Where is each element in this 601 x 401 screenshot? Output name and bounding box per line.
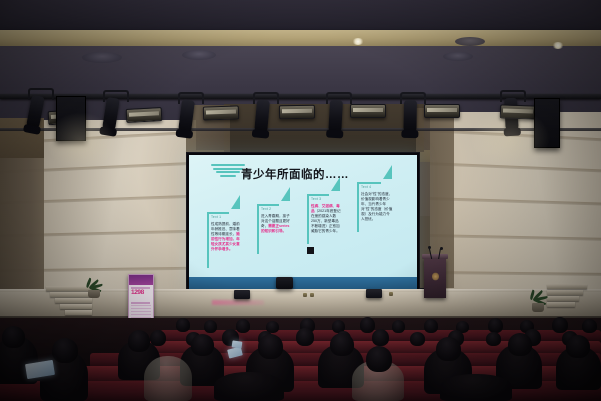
audience-head — [372, 329, 389, 346]
audience-head — [360, 317, 375, 333]
audience-person-foreground — [440, 374, 512, 401]
audience-phone-screen — [232, 340, 243, 348]
slide-arrow-icon — [281, 187, 290, 201]
audience-head — [436, 337, 461, 361]
audience-head — [204, 320, 217, 333]
stage-floodlight — [350, 104, 386, 118]
audience-head — [52, 338, 78, 363]
ceiling-vent — [455, 37, 485, 46]
presentation-slide: 青少年所面临的…… Text 1 性成熟提前、婚前年龄推迟、意味着性等待期延长，… — [189, 155, 417, 277]
slide-arrow-icon — [231, 195, 240, 209]
podium-emblem — [432, 272, 439, 281]
audience-person-light-clothing — [144, 356, 192, 401]
audience-head — [128, 330, 150, 352]
ceiling-downlight — [552, 42, 564, 49]
slide-text-box-4-body: 社会对"性"的态度、价值观影响着青少年、当代青少年对"性"的态度（价值观）及行为… — [361, 192, 393, 223]
ceiling-vent — [182, 50, 216, 60]
audience-person-foreground — [214, 372, 284, 401]
slide-text-box-2: Text 2 进入青春期，孩子对这个话题且更好奇，需要正series的知识和引导… — [257, 204, 297, 256]
banner-price: 1298 — [131, 289, 144, 296]
ceiling-vent — [443, 52, 473, 61]
slide-text-box-3-body: 性病、艾滋病、毒品（2021年底登记在册的感染人数250万、新型毒品不断增进）正… — [311, 204, 341, 235]
audience-head — [258, 334, 283, 359]
slide-text-box-2-label: Text 2 — [261, 207, 271, 211]
slide-arrow-icon — [331, 177, 340, 191]
audience-head — [191, 334, 214, 356]
stage-prop-object — [303, 293, 307, 297]
audience-head — [488, 318, 503, 333]
stage-floor-speaker — [276, 277, 293, 289]
stage-spotlight — [328, 100, 343, 135]
audience-head — [2, 326, 25, 348]
slide-arrow-icon — [383, 165, 392, 179]
stage-floodlight — [424, 104, 460, 118]
slide-decor-bars-left — [211, 164, 245, 178]
banner-header-bar — [129, 275, 153, 285]
slide-text-box-2-body: 进入青春期，孩子对这个话题且更好奇，需要正series的知识和引导。 — [261, 214, 291, 234]
hanging-loudspeaker-right — [534, 98, 560, 148]
ceiling-vent — [82, 52, 122, 63]
slide-cursor-block — [307, 247, 314, 254]
ceiling-upper-dark — [0, 0, 601, 34]
stage-floodlight — [126, 107, 163, 123]
slide-text-box-1-label: Text 1 — [211, 215, 221, 219]
stage-prop-object — [310, 293, 314, 297]
stage-floodlight — [279, 105, 315, 120]
stage-spotlight — [403, 100, 417, 134]
audience-head — [410, 332, 425, 346]
slide-text-box-3-label: Text 3 — [311, 197, 321, 201]
led-screen: 青少年所面临的…… Text 1 性成熟提前、婚前年龄推迟、意味着性等待期延长，… — [186, 152, 420, 294]
hanging-loudspeaker-left — [56, 96, 86, 141]
slide-text-box-1-body: 性成熟提前、婚前年龄推迟、意味着性等待期延长，婚前性行为增加，年轻女孩尤其少女意… — [211, 222, 241, 253]
stage-floodlight — [203, 105, 239, 120]
ceiling-downlight — [352, 38, 364, 45]
text-3-rest: （2021年底登记在册的感染人数250万、新型毒品不断增进）正愈加威胁它的青少年… — [311, 209, 341, 233]
audience-head — [366, 346, 392, 372]
auditorium-scene: 青少年所面临的…… Text 1 性成熟提前、婚前年龄推迟、意味着性等待期延长，… — [0, 0, 601, 401]
audience-head — [566, 335, 590, 358]
slide-text-box-3: Text 3 性病、艾滋病、毒品（2021年底登记在册的感染人数250万、新型毒… — [307, 194, 347, 246]
audience-head — [176, 318, 190, 332]
stage-prop-object — [389, 292, 393, 296]
podium-top-surface — [422, 254, 448, 259]
slide-text-box-1: Text 1 性成熟提前、婚前年龄推迟、意味着性等待期延长，婚前性行为增加，年轻… — [207, 212, 247, 270]
audience-head — [486, 332, 501, 346]
podium-lectern — [424, 258, 446, 298]
podium-microphone-head — [428, 246, 431, 249]
promo-rollup-banner: 1298 — [128, 274, 154, 322]
slide-text-box-4-label: Text 4 — [361, 185, 371, 189]
audience-head — [330, 333, 354, 356]
stage-monitor-speaker-right — [366, 289, 382, 298]
audience-head — [508, 333, 532, 356]
audience-head — [392, 320, 405, 333]
text-4-plain: 社会对"性"的态度、价值观影响着青少年、当代青少年对"性"的态度（价值观）及行为… — [361, 192, 392, 221]
slide-text-box-4: Text 4 社会对"性"的态度、价值观影响着青少年、当代青少年对"性"的态度（… — [357, 182, 399, 234]
stage-monitor-speaker-left — [234, 290, 250, 299]
audience-head — [296, 328, 314, 346]
banner-detail-block — [131, 305, 151, 318]
audience-head — [582, 319, 597, 333]
audience-head — [424, 319, 438, 333]
stage-front-signage — [212, 300, 264, 305]
podium-microphone-head — [440, 247, 443, 250]
stage-floodlight — [500, 104, 536, 119]
audience-head — [236, 319, 250, 333]
audience-head — [552, 317, 568, 333]
